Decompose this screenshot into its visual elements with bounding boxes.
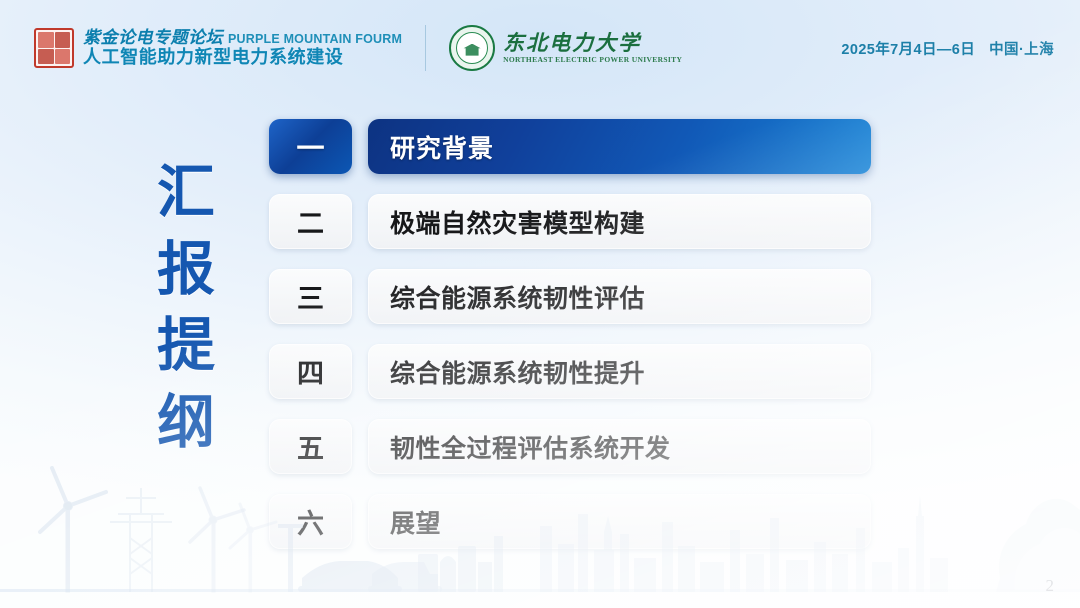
page-title: 汇 报 提 纲 — [138, 155, 234, 461]
wind-turbine-icon — [190, 488, 244, 592]
page-title-char-3: 提 — [138, 308, 234, 385]
outline-number-4: 四 — [269, 344, 352, 399]
forum-title-group: 紫金论电专题论坛 PURPLE MOUNTAIN FOURM 人工智能助力新型电… — [83, 29, 402, 68]
outline-item-5[interactable]: 五 韧性全过程评估系统开发 — [269, 419, 871, 474]
forum-name-cn: 紫金论电专题论坛 — [83, 29, 223, 47]
outline-item-2[interactable]: 二 极端自然灾害模型构建 — [269, 194, 871, 249]
page-title-char-1: 汇 — [138, 155, 234, 232]
wind-turbine-icon — [40, 468, 106, 592]
outline-item-3[interactable]: 三 综合能源系统韧性评估 — [269, 269, 871, 324]
outline-number-1: 一 — [269, 119, 352, 174]
outline-label-3: 综合能源系统韧性评估 — [368, 269, 871, 324]
outline-number-3: 三 — [269, 269, 352, 324]
cloud-icon — [996, 499, 1080, 592]
university-name-en: NORTHEAST ELECTRIC POWER UNIVERSITY — [503, 56, 682, 64]
university-branding: 东北电力大学 NORTHEAST ELECTRIC POWER UNIVERSI… — [449, 25, 682, 71]
page-number: 2 — [1046, 576, 1055, 596]
forum-name-en: PURPLE MOUNTAIN FOURM — [228, 33, 402, 46]
page-title-char-2: 报 — [138, 232, 234, 309]
outline-item-6[interactable]: 六 展望 — [269, 494, 871, 549]
outline-number-6: 六 — [269, 494, 352, 549]
outline-list: 一 研究背景 二 极端自然灾害模型构建 三 综合能源系统韧性评估 四 综合能源系… — [269, 119, 871, 549]
outline-label-2: 极端自然灾害模型构建 — [368, 194, 871, 249]
forum-subtitle-cn: 人工智能助力新型电力系统建设 — [83, 48, 402, 67]
outline-label-4: 综合能源系统韧性提升 — [368, 344, 871, 399]
university-crest-icon — [449, 25, 495, 71]
slide-header: 紫金论电专题论坛 PURPLE MOUNTAIN FOURM 人工智能助力新型电… — [0, 0, 1080, 96]
electric-car-icon — [298, 561, 402, 592]
event-location: 中国·上海 — [989, 38, 1054, 59]
electric-car-icon — [368, 562, 442, 592]
outline-label-5: 韧性全过程评估系统开发 — [368, 419, 871, 474]
outline-label-1: 研究背景 — [368, 119, 871, 174]
university-name-cn: 东北电力大学 — [503, 31, 682, 54]
header-divider — [425, 25, 426, 71]
outline-item-1[interactable]: 一 研究背景 — [269, 119, 871, 174]
outline-label-6: 展望 — [368, 494, 871, 549]
slide-canvas: 紫金论电专题论坛 PURPLE MOUNTAIN FOURM 人工智能助力新型电… — [0, 0, 1080, 608]
transmission-tower-icon — [110, 488, 172, 592]
header-branding: 紫金论电专题论坛 PURPLE MOUNTAIN FOURM 人工智能助力新型电… — [34, 25, 682, 71]
outline-number-2: 二 — [269, 194, 352, 249]
outline-item-4[interactable]: 四 综合能源系统韧性提升 — [269, 344, 871, 399]
event-info: 2025年7月4日—6日 中国·上海 — [841, 38, 1054, 59]
event-date: 2025年7月4日—6日 — [841, 38, 975, 59]
page-title-char-4: 纲 — [138, 385, 234, 462]
outline-number-5: 五 — [269, 419, 352, 474]
red-seal-stamp-icon — [34, 28, 74, 68]
